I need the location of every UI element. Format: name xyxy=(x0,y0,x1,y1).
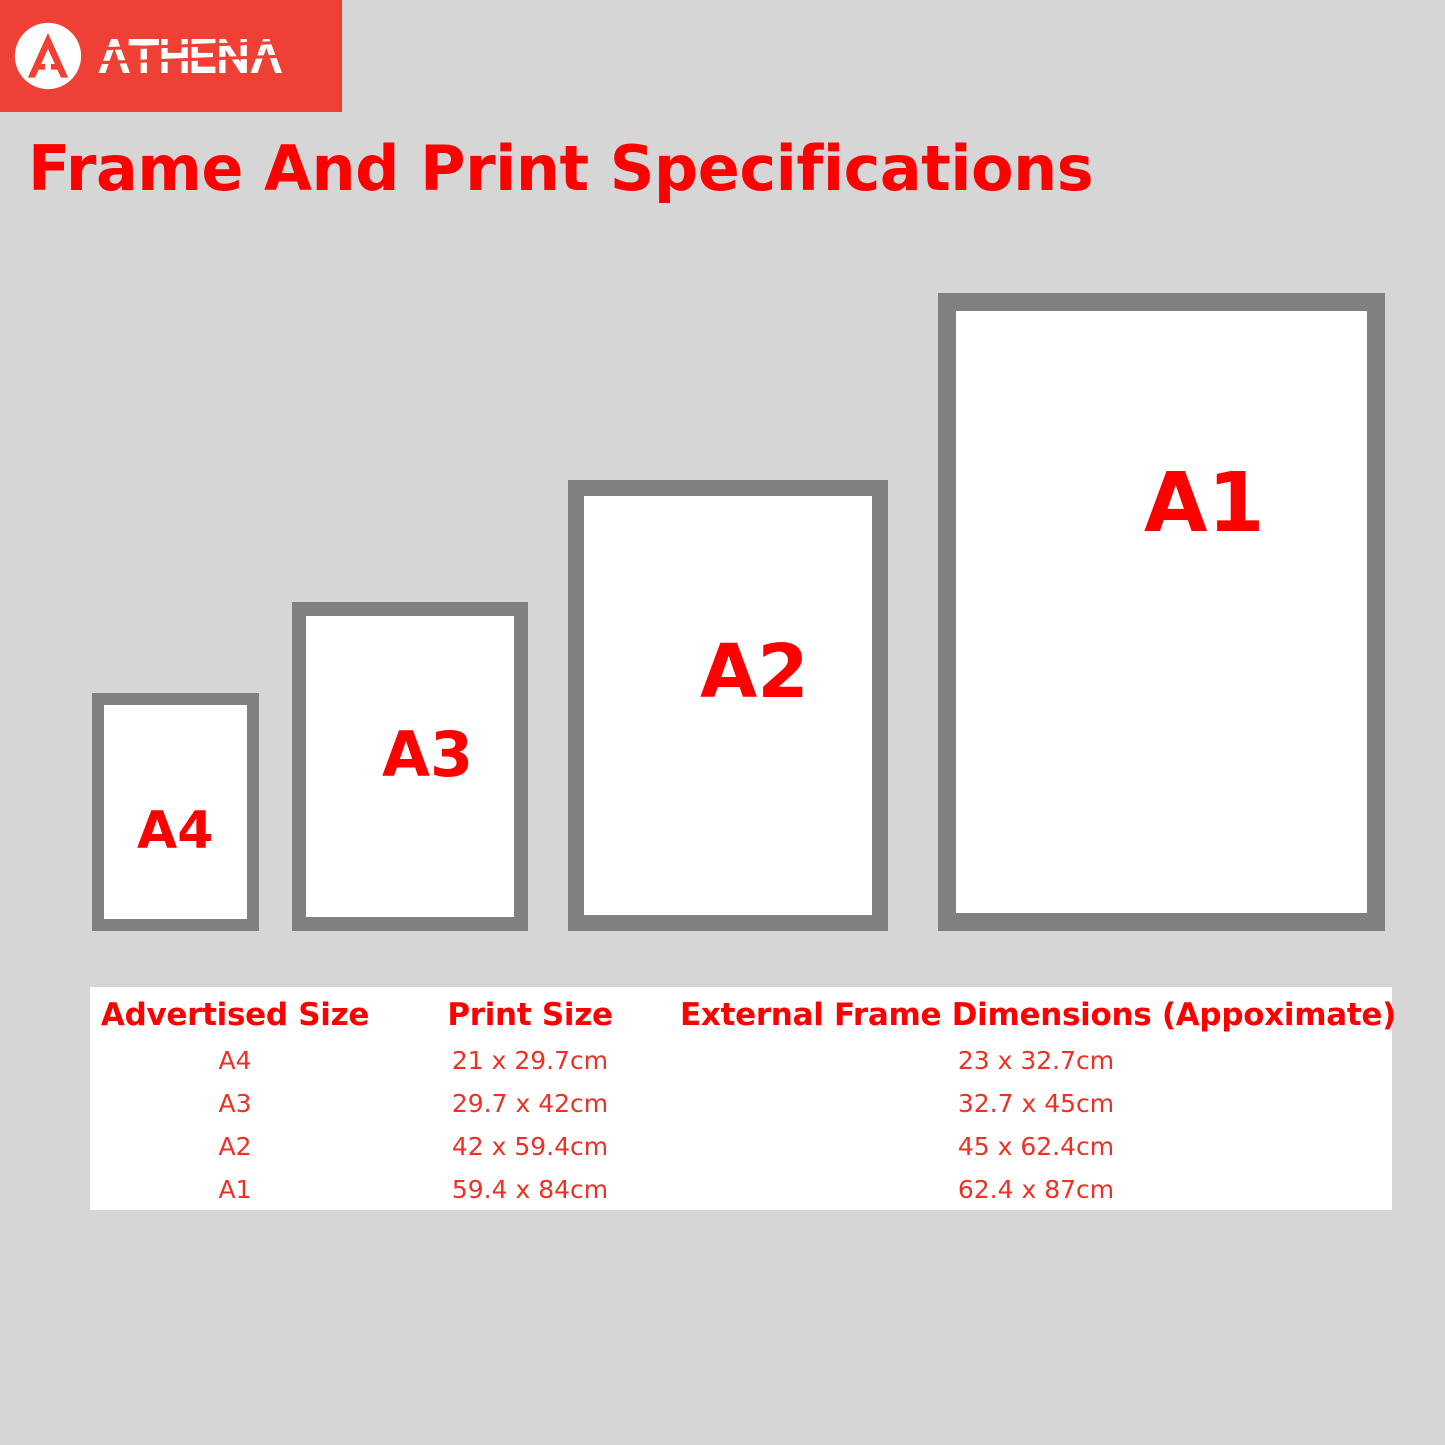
cell-external-frame-dimensions: 45 x 62.4cm xyxy=(680,1125,1392,1168)
cell-advertised-size: A1 xyxy=(90,1168,380,1211)
header-print-size: Print Size xyxy=(380,987,680,1039)
frame-a4: A4 xyxy=(92,693,259,931)
frame-label-a4: A4 xyxy=(137,805,213,857)
spec-table-panel: Advertised Size Print Size External Fram… xyxy=(90,987,1392,1210)
header-external-frame-dimensions: External Frame Dimensions (Appoximate) xyxy=(680,987,1392,1039)
header-advertised-size: Advertised Size xyxy=(90,987,380,1039)
frame-label-a3: A3 xyxy=(382,724,473,786)
cell-advertised-size: A4 xyxy=(90,1039,380,1082)
cell-print-size: 29.7 x 42cm xyxy=(380,1082,680,1125)
table-row: A242 x 59.4cm45 x 62.4cm xyxy=(90,1125,1392,1168)
cell-advertised-size: A2 xyxy=(90,1125,380,1168)
table-row: A329.7 x 42cm32.7 x 45cm xyxy=(90,1082,1392,1125)
spec-table: Advertised Size Print Size External Fram… xyxy=(90,987,1392,1211)
table-row: A159.4 x 84cm62.4 x 87cm xyxy=(90,1168,1392,1211)
table-body: A421 x 29.7cm23 x 32.7cmA329.7 x 42cm32.… xyxy=(90,1039,1392,1211)
frame-a3: A3 xyxy=(292,602,528,931)
cell-print-size: 21 x 29.7cm xyxy=(380,1039,680,1082)
table-header-row: Advertised Size Print Size External Fram… xyxy=(90,987,1392,1039)
cell-external-frame-dimensions: 62.4 x 87cm xyxy=(680,1168,1392,1211)
table-row: A421 x 29.7cm23 x 32.7cm xyxy=(90,1039,1392,1082)
frame-label-a1: A1 xyxy=(1144,463,1265,545)
frame-size-diagram: A4A3A2A1 xyxy=(0,0,1445,960)
cell-print-size: 59.4 x 84cm xyxy=(380,1168,680,1211)
cell-external-frame-dimensions: 23 x 32.7cm xyxy=(680,1039,1392,1082)
frame-a2: A2 xyxy=(568,480,888,931)
cell-external-frame-dimensions: 32.7 x 45cm xyxy=(680,1082,1392,1125)
frame-label-a2: A2 xyxy=(700,635,809,709)
cell-advertised-size: A3 xyxy=(90,1082,380,1125)
frame-a1: A1 xyxy=(938,293,1385,931)
cell-print-size: 42 x 59.4cm xyxy=(380,1125,680,1168)
